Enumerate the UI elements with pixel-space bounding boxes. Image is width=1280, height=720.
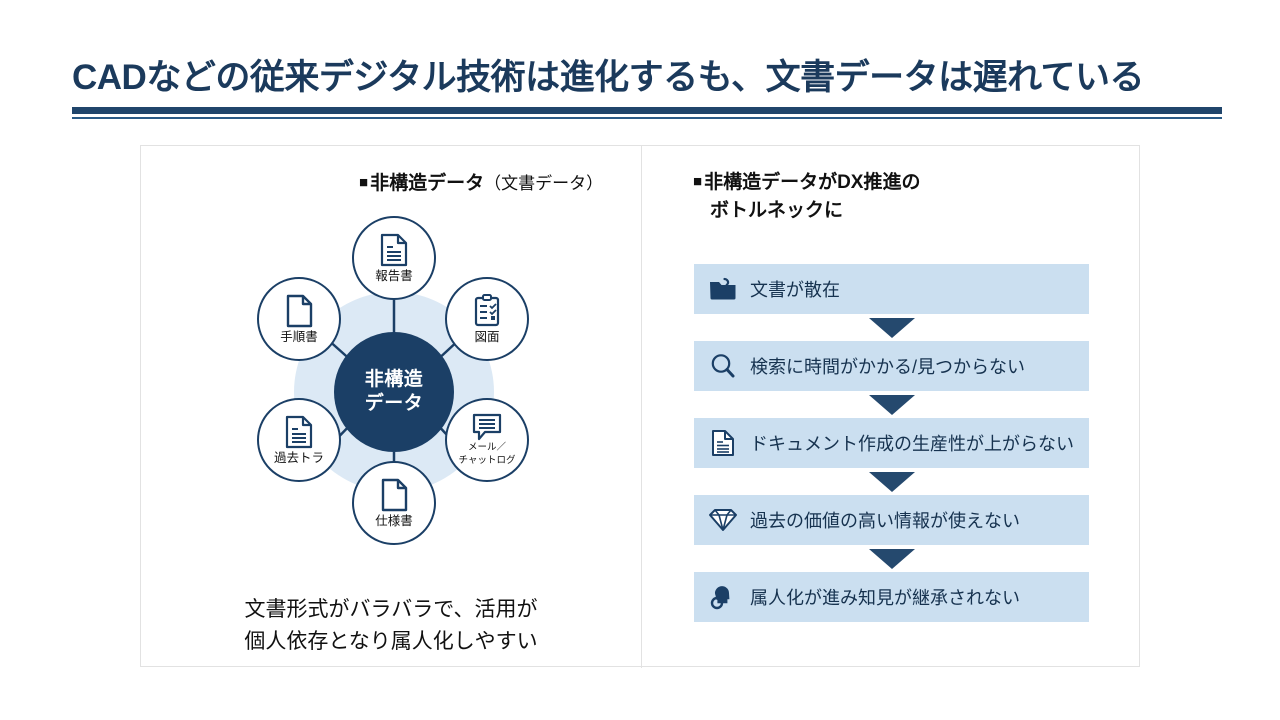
flow-arrow-1 [694,314,1089,341]
hub-line-1: 非構造 [365,368,424,392]
flow-arrow-3 [694,468,1089,495]
title-underline-thin [72,117,1222,119]
hub-line-2: データ [365,392,424,416]
arrow-down-icon [869,395,915,415]
node-zumen[interactable]: 図面 [445,277,529,361]
flow-step-1[interactable]: 文書が散在 [694,264,1089,314]
flow-step-3[interactable]: ドキュメント作成の生産性が上がらない [694,418,1089,468]
node-label: 図面 [474,330,499,344]
title-block: CADなどの従来デジタル技術は進化するも、文書データは遅れている [72,58,1222,119]
flow-step-label: ドキュメント作成の生産性が上がらない [750,430,1074,456]
document-icon [708,428,738,458]
node-label: 手順書 [280,330,318,344]
clipboard-checklist-icon [472,294,502,328]
hub-center: 非構造 データ [334,332,454,452]
bullet-square-icon: ■ [359,174,368,191]
node-label-line-2: チャットログ [459,456,516,467]
node-kako-tora[interactable]: 過去トラ [257,398,341,482]
node-label: 過去トラ [274,451,324,465]
node-houkokusho[interactable]: 報告書 [352,216,436,300]
right-heading-line-1: ■非構造データがDX推進の [693,169,920,197]
search-icon [708,351,738,381]
diamond-icon [708,505,738,535]
page-title: CADなどの従来デジタル技術は進化するも、文書データは遅れている [72,58,1222,98]
arrow-down-icon [869,549,915,569]
flow-step-label: 属人化が進み知見が継承されない [750,584,1020,610]
document-lines-icon [379,233,409,267]
caption-line-2: 個人依存となり属人化しやすい [141,626,641,658]
left-panel-heading: ■非構造データ（文書データ） [359,170,603,198]
node-shiyousho[interactable]: 仕様書 [352,461,436,545]
flow-step-label: 文書が散在 [750,276,840,302]
person-icon [708,582,738,612]
left-heading-sub: （文書データ） [484,174,603,193]
speech-bubble-icon [471,413,503,441]
title-underline-thick [72,107,1222,114]
left-panel-caption: 文書形式がバラバラで、活用が 個人依存となり属人化しやすい [141,594,641,657]
unstructured-data-diagram: 非構造 データ 報告書 [221,208,566,580]
content-panel: ■非構造データ（文書データ） 非構造 データ [140,145,1140,667]
caption-line-1: 文書形式がバラバラで、活用が [141,594,641,626]
folder-question-icon [708,274,738,304]
node-label: 報告書 [375,269,413,283]
flow-step-4[interactable]: 過去の価値の高い情報が使えない [694,495,1089,545]
right-heading-text-1: 非構造データがDX推進の [704,172,920,193]
bullet-square-icon: ■ [693,173,702,190]
document-lines-icon [284,415,314,449]
node-label: 仕様書 [375,514,413,528]
document-blank-icon [379,478,409,512]
flow-step-2[interactable]: 検索に時間がかかる/見つからない [694,341,1089,391]
flow-arrow-2 [694,391,1089,418]
bottleneck-flow: 文書が散在 検索に時間がかかる/見つからない [694,264,1089,622]
arrow-down-icon [869,318,915,338]
document-blank-icon [284,294,314,328]
panel-divider [641,146,642,668]
node-label-line-1: メール／ [468,443,506,454]
node-tejunsho[interactable]: 手順書 [257,277,341,361]
flow-step-label: 過去の価値の高い情報が使えない [750,507,1020,533]
flow-step-label: 検索に時間がかかる/見つからない [750,353,1025,379]
flow-arrow-4 [694,545,1089,572]
right-heading-line-2: ボトルネックに [693,197,920,225]
arrow-down-icon [869,472,915,492]
right-panel-heading: ■非構造データがDX推進の ボトルネックに [693,169,920,224]
node-mail-chat-log[interactable]: メール／ チャットログ [445,398,529,482]
flow-step-5[interactable]: 属人化が進み知見が継承されない [694,572,1089,622]
left-heading-main: 非構造データ [370,173,484,194]
